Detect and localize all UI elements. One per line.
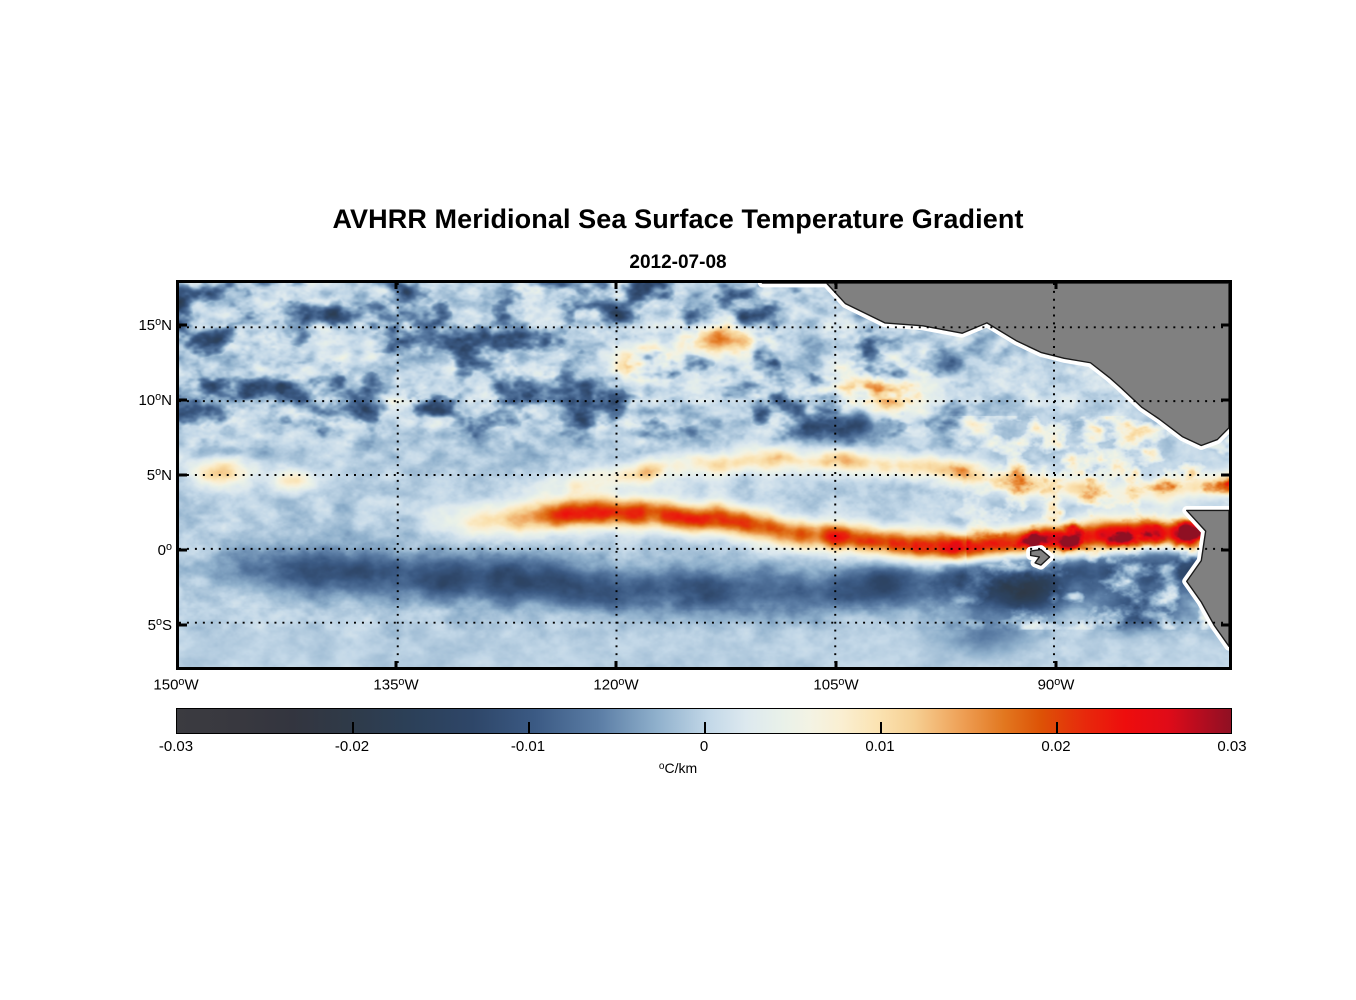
colorbar-tick-mark <box>1056 722 1058 734</box>
x-axis-tick-mark <box>395 661 398 670</box>
x-axis-tick-mark <box>1055 280 1058 289</box>
y-axis-tick-mark <box>176 324 187 327</box>
chart-subtitle: 2012-07-08 <box>0 252 1356 274</box>
colorbar-tick-label: 0.02 <box>1041 738 1070 755</box>
colorbar-tick-mark <box>704 722 706 734</box>
x-axis-tick-mark <box>835 661 838 670</box>
x-axis-tick-label: 90oW <box>1038 676 1075 694</box>
x-axis-tick-mark <box>835 280 838 289</box>
y-axis-tick-label: 5oN <box>147 466 172 484</box>
y-axis-tick-mark <box>176 474 187 477</box>
y-axis-tick-mark <box>176 399 187 402</box>
y-axis-tick-mark <box>1221 474 1232 477</box>
colorbar-tick-mark <box>880 722 882 734</box>
colorbar-tick-label: 0 <box>700 738 708 755</box>
x-axis-tick-mark <box>1055 661 1058 670</box>
land-mask-layer <box>179 283 1229 667</box>
x-axis-tick-label: 105oW <box>813 676 858 694</box>
colorbar-tick-label: -0.01 <box>511 738 545 755</box>
x-axis-tick-label: 120oW <box>593 676 638 694</box>
x-axis-tick-mark <box>615 661 618 670</box>
y-axis-tick-mark <box>176 624 187 627</box>
chart-title: AVHRR Meridional Sea Surface Temperature… <box>0 204 1356 235</box>
colorbar-tick-label: -0.03 <box>159 738 193 755</box>
x-axis-tick-label: 135oW <box>373 676 418 694</box>
x-axis-tick-mark <box>395 280 398 289</box>
x-axis-tick-label: 150oW <box>153 676 198 694</box>
y-axis-tick-label: 5oS <box>148 616 172 634</box>
figure-canvas: AVHRR Meridional Sea Surface Temperature… <box>0 0 1356 1000</box>
y-axis-tick-mark <box>1221 399 1232 402</box>
colorbar-tick-label: 0.03 <box>1217 738 1246 755</box>
y-axis-tick-mark <box>176 549 187 552</box>
colorbar-tick-label: -0.02 <box>335 738 369 755</box>
y-axis-tick-mark <box>1221 324 1232 327</box>
map-panel[interactable] <box>176 280 1232 670</box>
y-axis-tick-label: 0o <box>158 541 172 559</box>
y-axis-tick-mark <box>1221 549 1232 552</box>
y-axis-tick-label: 15oN <box>138 316 172 334</box>
x-axis-tick-mark <box>615 280 618 289</box>
y-axis-tick-label: 10oN <box>138 391 172 409</box>
colorbar-tick-mark <box>528 722 530 734</box>
colorbar-unit-label: oC/km <box>0 760 1356 776</box>
y-axis-tick-mark <box>1221 624 1232 627</box>
colorbar-tick-label: 0.01 <box>865 738 894 755</box>
colorbar-tick-mark <box>352 722 354 734</box>
